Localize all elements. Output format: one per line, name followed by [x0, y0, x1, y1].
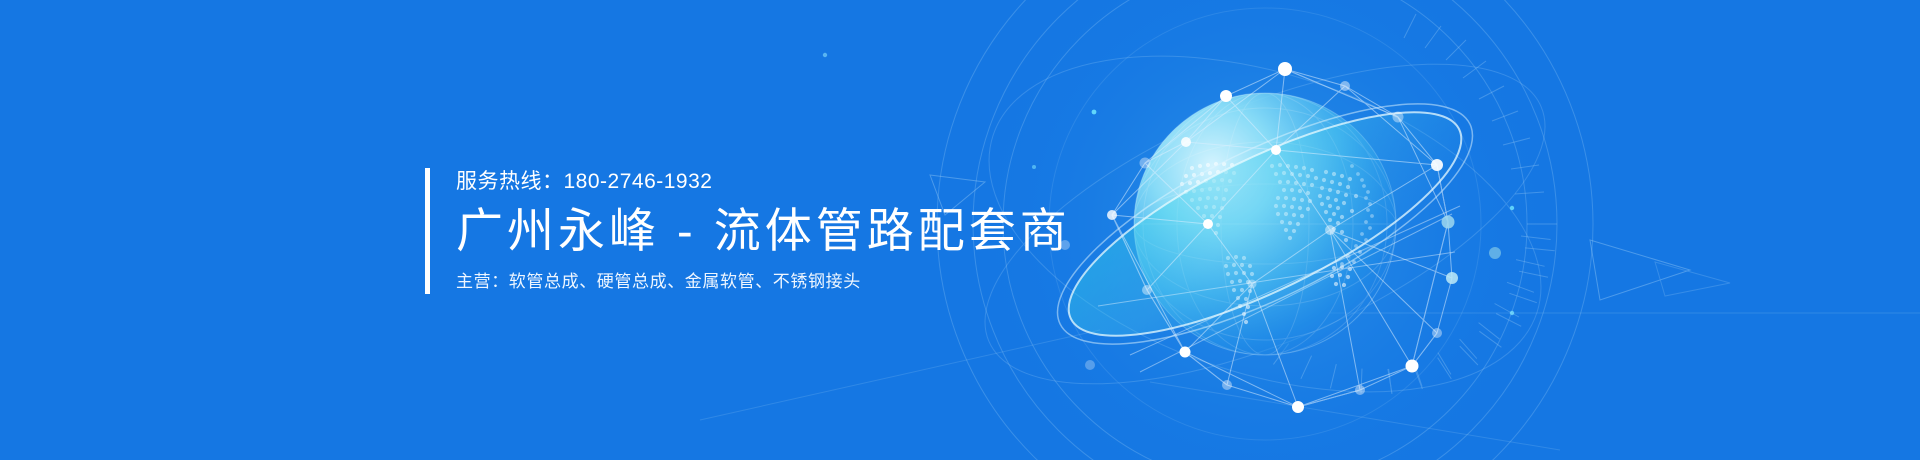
vertical-accent-bar [425, 168, 430, 294]
service-hotline: 服务热线：180-2746-1932 [456, 168, 1071, 196]
banner-text-block: 服务热线：180-2746-1932 广州永峰 - 流体管路配套商 主营：软管总… [425, 168, 1071, 294]
banner-subheadline: 主营：软管总成、硬管总成、金属软管、不锈钢接头 [456, 270, 1071, 294]
promo-banner: 服务热线：180-2746-1932 广州永峰 - 流体管路配套商 主营：软管总… [0, 0, 1920, 460]
banner-text-column: 服务热线：180-2746-1932 广州永峰 - 流体管路配套商 主营：软管总… [456, 168, 1071, 294]
banner-headline: 广州永峰 - 流体管路配套商 [456, 200, 1071, 262]
